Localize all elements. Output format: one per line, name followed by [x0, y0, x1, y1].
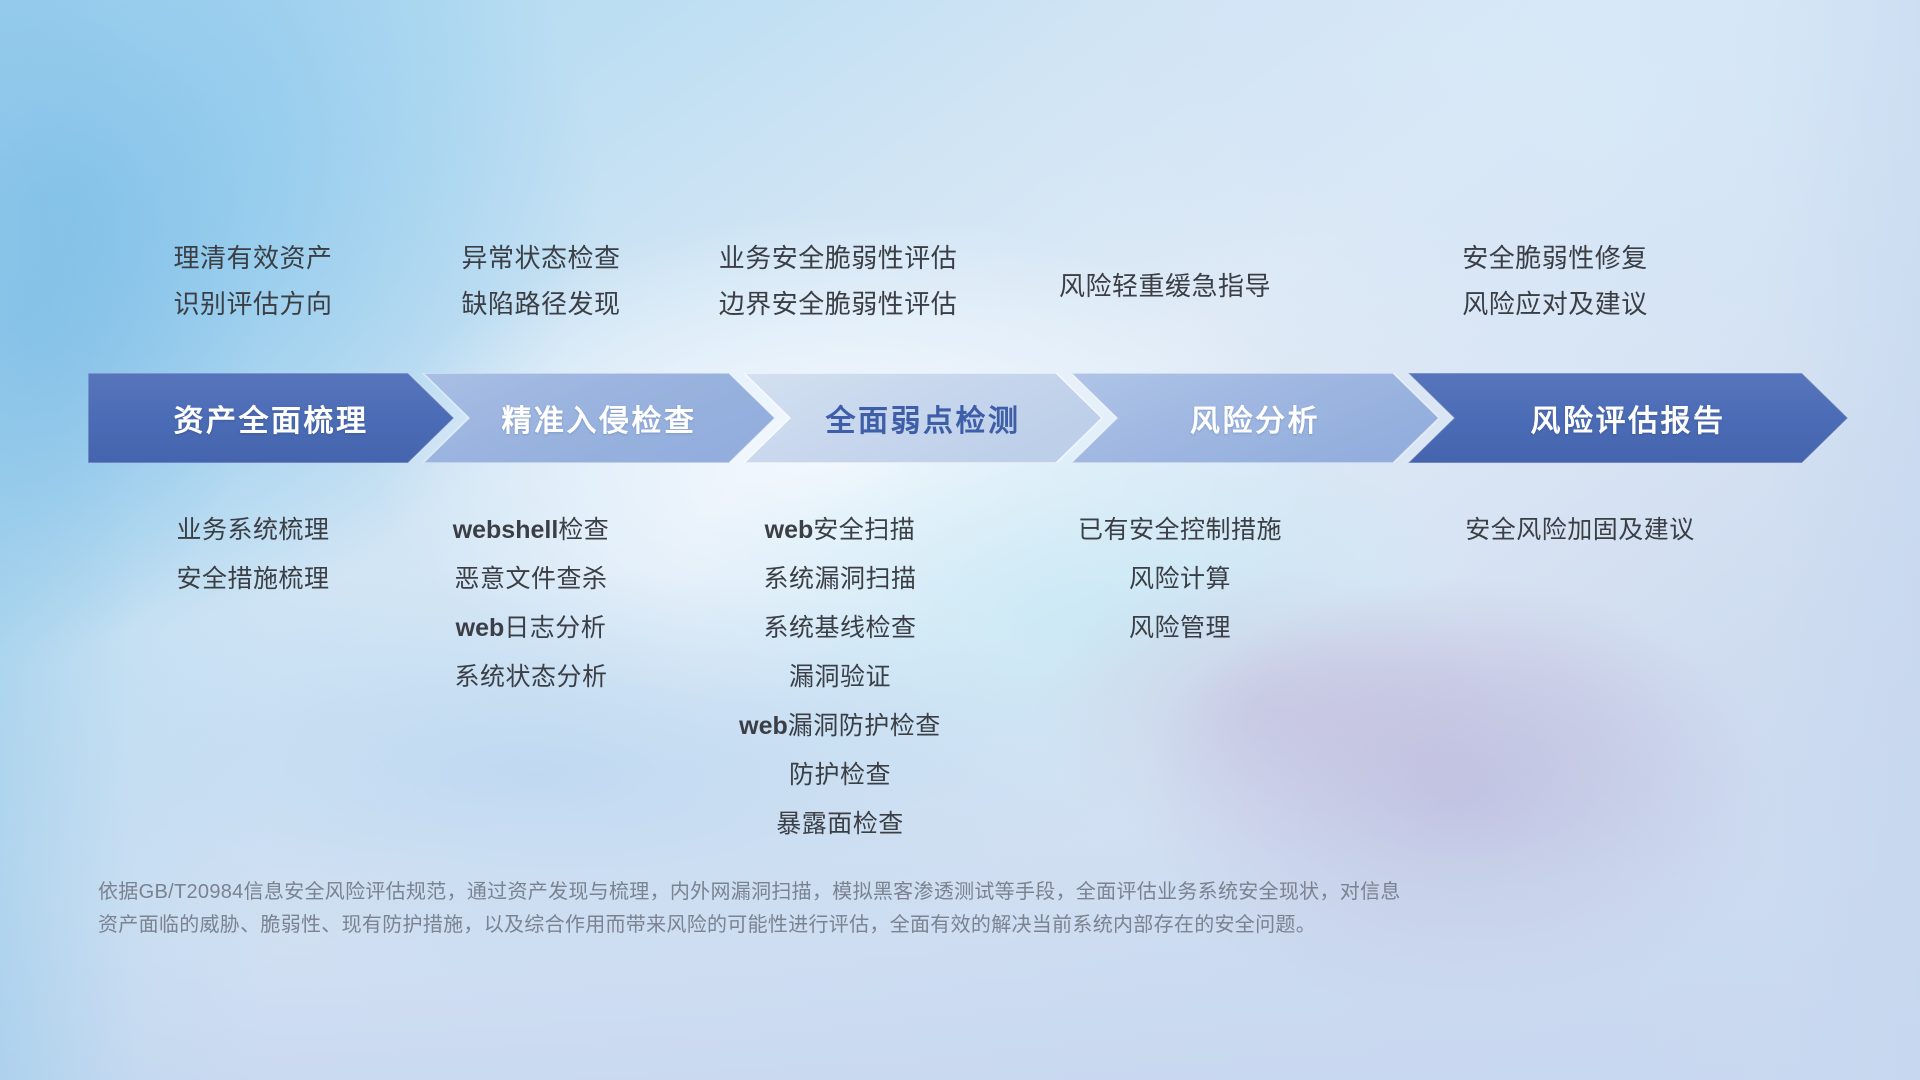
task-cjk: 系统漏洞扫描 [763, 565, 916, 593]
task-cjk: 防护检查 [789, 761, 891, 789]
output-text: 边界安全脆弱性评估 [648, 291, 1028, 317]
stage-label: 资产全面梳理 [174, 396, 369, 440]
task-cjk: 漏洞防护检查 [788, 712, 941, 740]
task-item: 恶意文件查杀 [366, 567, 696, 592]
footer-description: 依据GB/T20984信息安全风险评估规范，通过资产发现与梳理，内外网漏洞扫描，… [98, 876, 1658, 942]
process-flow-banner: 资产全面梳理 精准入侵检查 [88, 373, 1848, 463]
task-item: web漏洞防护检查 [660, 714, 1020, 739]
output-text: 安全脆弱性修复 [1390, 245, 1720, 271]
stage-label: 全面弱点检测 [826, 396, 1021, 440]
task-cjk: 系统状态分析 [454, 663, 607, 691]
task-latin: web [456, 614, 505, 642]
output-text: 业务安全脆弱性评估 [648, 245, 1028, 271]
stage-label: 风险分析 [1190, 396, 1320, 440]
task-cjk: 安全扫描 [813, 516, 915, 544]
task-cjk: 漏洞验证 [789, 663, 891, 691]
task-item: 防护检查 [660, 763, 1020, 788]
task-latin: web [765, 516, 814, 544]
task-latin: webshell [453, 516, 559, 544]
stage-tasks-intrusion-check: webshell检查 恶意文件查杀 web日志分析 系统状态分析 [366, 518, 696, 690]
task-cjk: 日志分析 [504, 614, 606, 642]
stage-tasks-risk-analysis: 已有安全控制措施 风险计算 风险管理 [1015, 518, 1345, 641]
output-text: 风险应对及建议 [1390, 291, 1720, 317]
stage-chevron-weakness-detection[interactable]: 全面弱点检测 [744, 373, 1102, 463]
stage-outputs-asset-inventory: 理清有效资产 识别评估方向 [88, 245, 418, 317]
stage-chevron-intrusion-check[interactable]: 精准入侵检查 [423, 373, 775, 463]
task-item: web日志分析 [366, 616, 696, 641]
task-cjk: 暴露面检查 [776, 810, 904, 838]
task-item: 漏洞验证 [660, 665, 1020, 690]
stage-tasks-risk-report: 安全风险加固及建议 [1380, 518, 1780, 543]
footer-line-2: 资产面临的威胁、脆弱性、现有防护措施，以及综合作用而带来风险的可能性进行评估，全… [98, 909, 1658, 942]
stage-outputs-risk-report: 安全脆弱性修复 风险应对及建议 [1390, 245, 1720, 317]
task-latin: web [739, 712, 788, 740]
task-item: 系统漏洞扫描 [660, 567, 1020, 592]
task-item: 风险计算 [1015, 567, 1345, 592]
output-text: 风险轻重缓急指导 [1000, 273, 1330, 299]
stage-label: 精准入侵检查 [502, 396, 697, 440]
task-item: 系统基线检查 [660, 616, 1020, 641]
stage-label: 风险评估报告 [1531, 396, 1726, 440]
task-cjk: 系统基线检查 [763, 614, 916, 642]
footer-line-1: 依据GB/T20984信息安全风险评估规范，通过资产发现与梳理，内外网漏洞扫描，… [98, 876, 1658, 909]
task-item: 暴露面检查 [660, 812, 1020, 837]
task-item: 安全风险加固及建议 [1380, 518, 1780, 543]
task-cjk: 检查 [558, 516, 609, 544]
task-cjk: 恶意文件查杀 [454, 565, 607, 593]
stage-chevron-asset-inventory[interactable]: 资产全面梳理 [88, 373, 454, 463]
stage-chevron-risk-report[interactable]: 风险评估报告 [1408, 373, 1848, 463]
task-item: 已有安全控制措施 [1015, 518, 1345, 543]
stage-tasks-weakness-detection: web安全扫描 系统漏洞扫描 系统基线检查 漏洞验证 web漏洞防护检查 防护检… [660, 518, 1020, 837]
task-item: web安全扫描 [660, 518, 1020, 543]
stage-chevron-risk-analysis[interactable]: 风险分析 [1071, 373, 1439, 463]
stage-outputs-weakness-detection: 业务安全脆弱性评估 边界安全脆弱性评估 [648, 245, 1028, 317]
stage-outputs-row: 理清有效资产 识别评估方向 异常状态检查 缺陷路径发现 业务安全脆弱性评估 边界… [0, 0, 1920, 300]
task-item: 系统状态分析 [366, 665, 696, 690]
task-item: webshell检查 [366, 518, 696, 543]
output-text: 识别评估方向 [88, 291, 418, 317]
output-text: 理清有效资产 [88, 245, 418, 271]
stage-outputs-risk-analysis: 风险轻重缓急指导 [1000, 273, 1330, 299]
task-item: 风险管理 [1015, 616, 1345, 641]
